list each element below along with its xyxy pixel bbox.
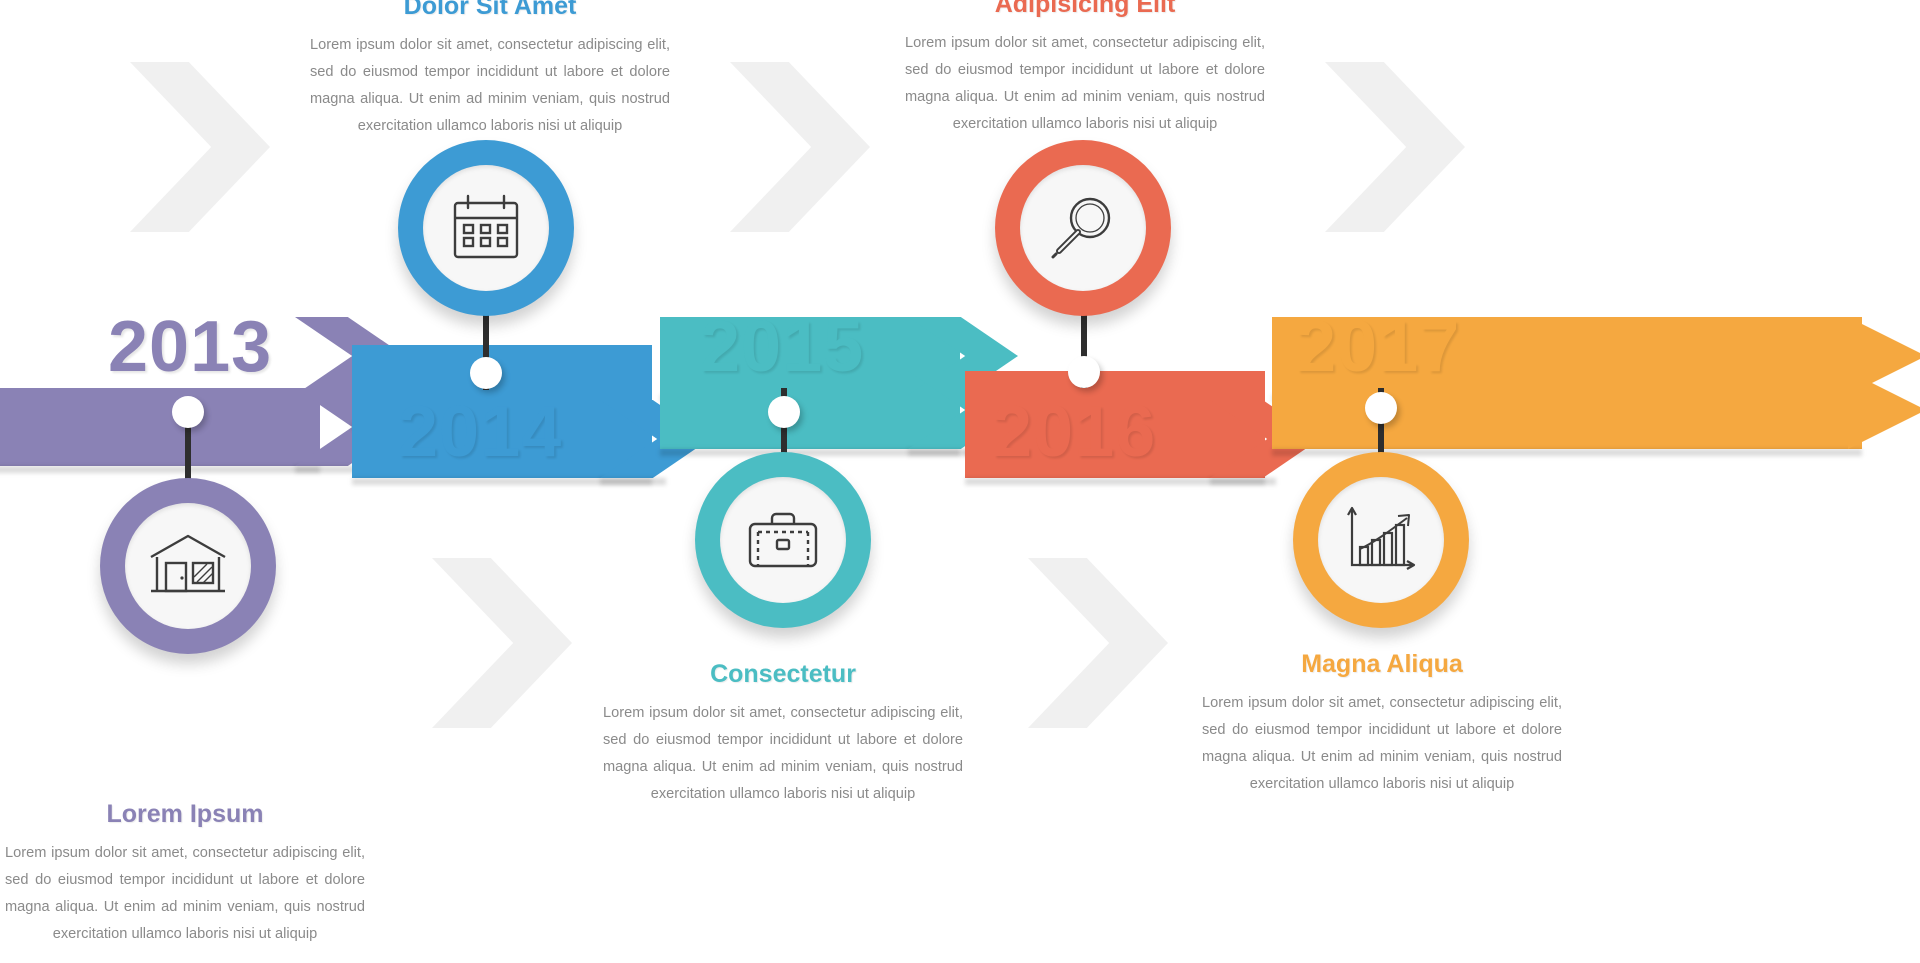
icon-circle-outer	[995, 140, 1171, 316]
connector-dot-2017	[1365, 392, 1397, 424]
calendar-icon	[450, 192, 522, 264]
text-block-2013: Lorem Ipsum Lorem ipsum dolor sit amet, …	[5, 800, 365, 948]
icon-circle-inner	[1020, 165, 1146, 291]
year-label-2014: 2014	[398, 396, 562, 468]
house-icon	[149, 533, 227, 599]
step-heading: Adipisicing Elit	[905, 0, 1265, 19]
arrow-head-shadow	[1210, 478, 1276, 485]
background-chevron-icon	[1325, 62, 1465, 232]
year-label-2017: 2017	[1296, 311, 1460, 383]
icon-circle-outer	[100, 478, 276, 654]
text-block-2014: Dolor Sit Amet Lorem ipsum dolor sit ame…	[310, 0, 670, 140]
icon-node-2016[interactable]	[995, 140, 1171, 316]
arrow-band-body	[0, 388, 320, 466]
timeline-infographic: 2013 2014 2015 2016 2017 Lorem Ipsum Lor…	[0, 0, 1920, 963]
text-block-2016: Adipisicing Elit Lorem ipsum dolor sit a…	[905, 0, 1265, 138]
step-heading: Lorem Ipsum	[5, 800, 365, 829]
step-heading: Magna Aliqua	[1202, 650, 1562, 679]
step-body: Lorem ipsum dolor sit amet, consectetur …	[1202, 690, 1562, 798]
text-block-2017: Magna Aliqua Lorem ipsum dolor sit amet,…	[1202, 650, 1562, 798]
connector-dot-2013	[172, 396, 204, 428]
icon-circle-inner	[720, 477, 846, 603]
icon-circle-outer	[695, 452, 871, 628]
icon-circle-outer	[1293, 452, 1469, 628]
step-heading: Dolor Sit Amet	[310, 0, 670, 21]
step-heading: Consectetur	[603, 660, 963, 689]
step-body: Lorem ipsum dolor sit amet, consectetur …	[603, 700, 963, 808]
icon-node-2013[interactable]	[100, 478, 276, 654]
text-block-2015: Consectetur Lorem ipsum dolor sit amet, …	[603, 660, 963, 808]
year-label-2015: 2015	[700, 311, 864, 383]
arrow-head-shadow	[600, 478, 666, 485]
connector-dot-2016	[1068, 356, 1100, 388]
icon-circle-inner	[1318, 477, 1444, 603]
arrow-band-2013	[0, 388, 320, 466]
connector-dot-2014	[470, 357, 502, 389]
background-chevron-icon	[1028, 558, 1168, 728]
icon-circle-outer	[398, 140, 574, 316]
step-body: Lorem ipsum dolor sit amet, consectetur …	[5, 840, 365, 948]
magnifier-icon	[1047, 192, 1119, 264]
background-chevron-icon	[130, 62, 270, 232]
icon-node-2017[interactable]	[1293, 452, 1469, 628]
icon-circle-inner	[125, 503, 251, 629]
connector-dot-2015	[768, 396, 800, 428]
step-body: Lorem ipsum dolor sit amet, consectetur …	[905, 30, 1265, 138]
arrow-head-shape	[1848, 371, 1920, 449]
background-chevron-icon	[730, 62, 870, 232]
growth-chart-icon	[1343, 505, 1419, 575]
year-label-2016: 2016	[992, 396, 1156, 468]
icon-circle-inner	[423, 165, 549, 291]
icon-node-2015[interactable]	[695, 452, 871, 628]
arrow-band-shadow	[0, 466, 320, 473]
background-chevron-icon	[432, 558, 572, 728]
year-label-2013: 2013	[108, 311, 272, 383]
briefcase-icon	[745, 507, 821, 573]
step-body: Lorem ipsum dolor sit amet, consectetur …	[310, 32, 670, 140]
arrow-head-2017-lower	[1848, 371, 1920, 449]
icon-node-2014[interactable]	[398, 140, 574, 316]
